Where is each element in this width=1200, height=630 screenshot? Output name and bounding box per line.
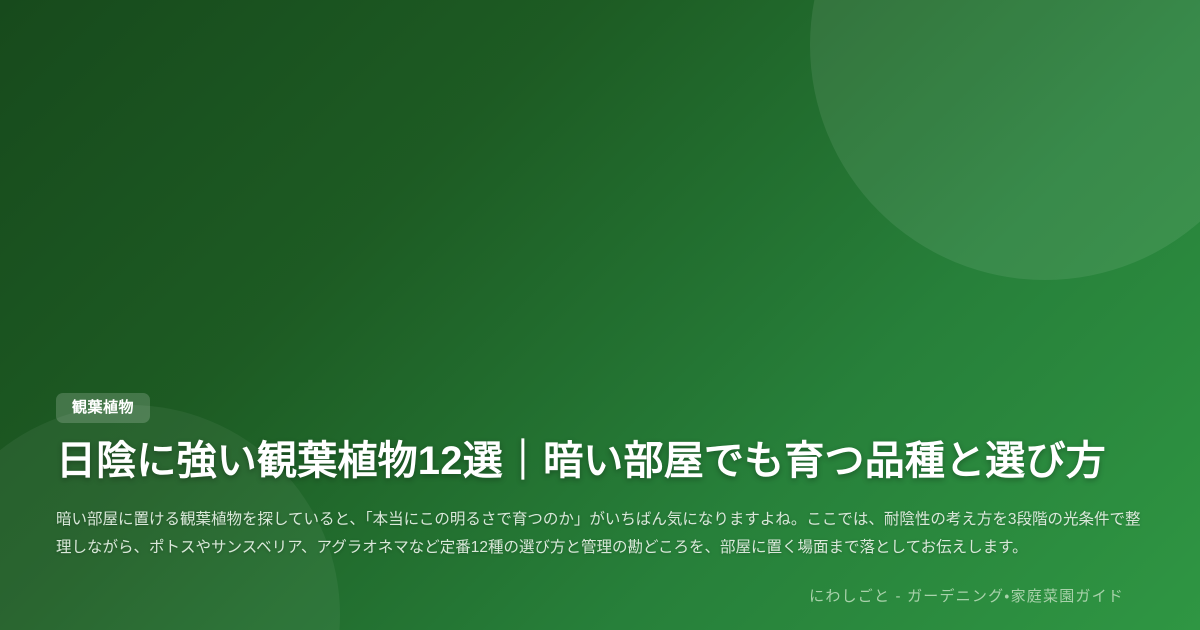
page-description: 暗い部屋に置ける観葉植物を探していると、「本当にこの明るさで育つのか」がいちばん… [56,506,1152,563]
card-footer: にわしごと - ガーデニング・家庭菜園ガイド [56,585,1152,630]
card-content: 観葉植物 日陰に強い観葉植物12選｜暗い部屋でも育つ品種と選び方 暗い部屋に置け… [0,393,1200,630]
ogp-card: 観葉植物 日陰に強い観葉植物12選｜暗い部屋でも育つ品種と選び方 暗い部屋に置け… [0,0,1200,630]
site-name: にわしごと - ガーデニング・家庭菜園ガイド [809,585,1124,606]
decorative-circle-top-right [810,0,1200,280]
category-badge: 観葉植物 [56,393,150,423]
page-title: 日陰に強い観葉植物12選｜暗い部屋でも育つ品種と選び方 [56,437,1152,486]
category-badge-row: 観葉植物 [56,393,1152,423]
